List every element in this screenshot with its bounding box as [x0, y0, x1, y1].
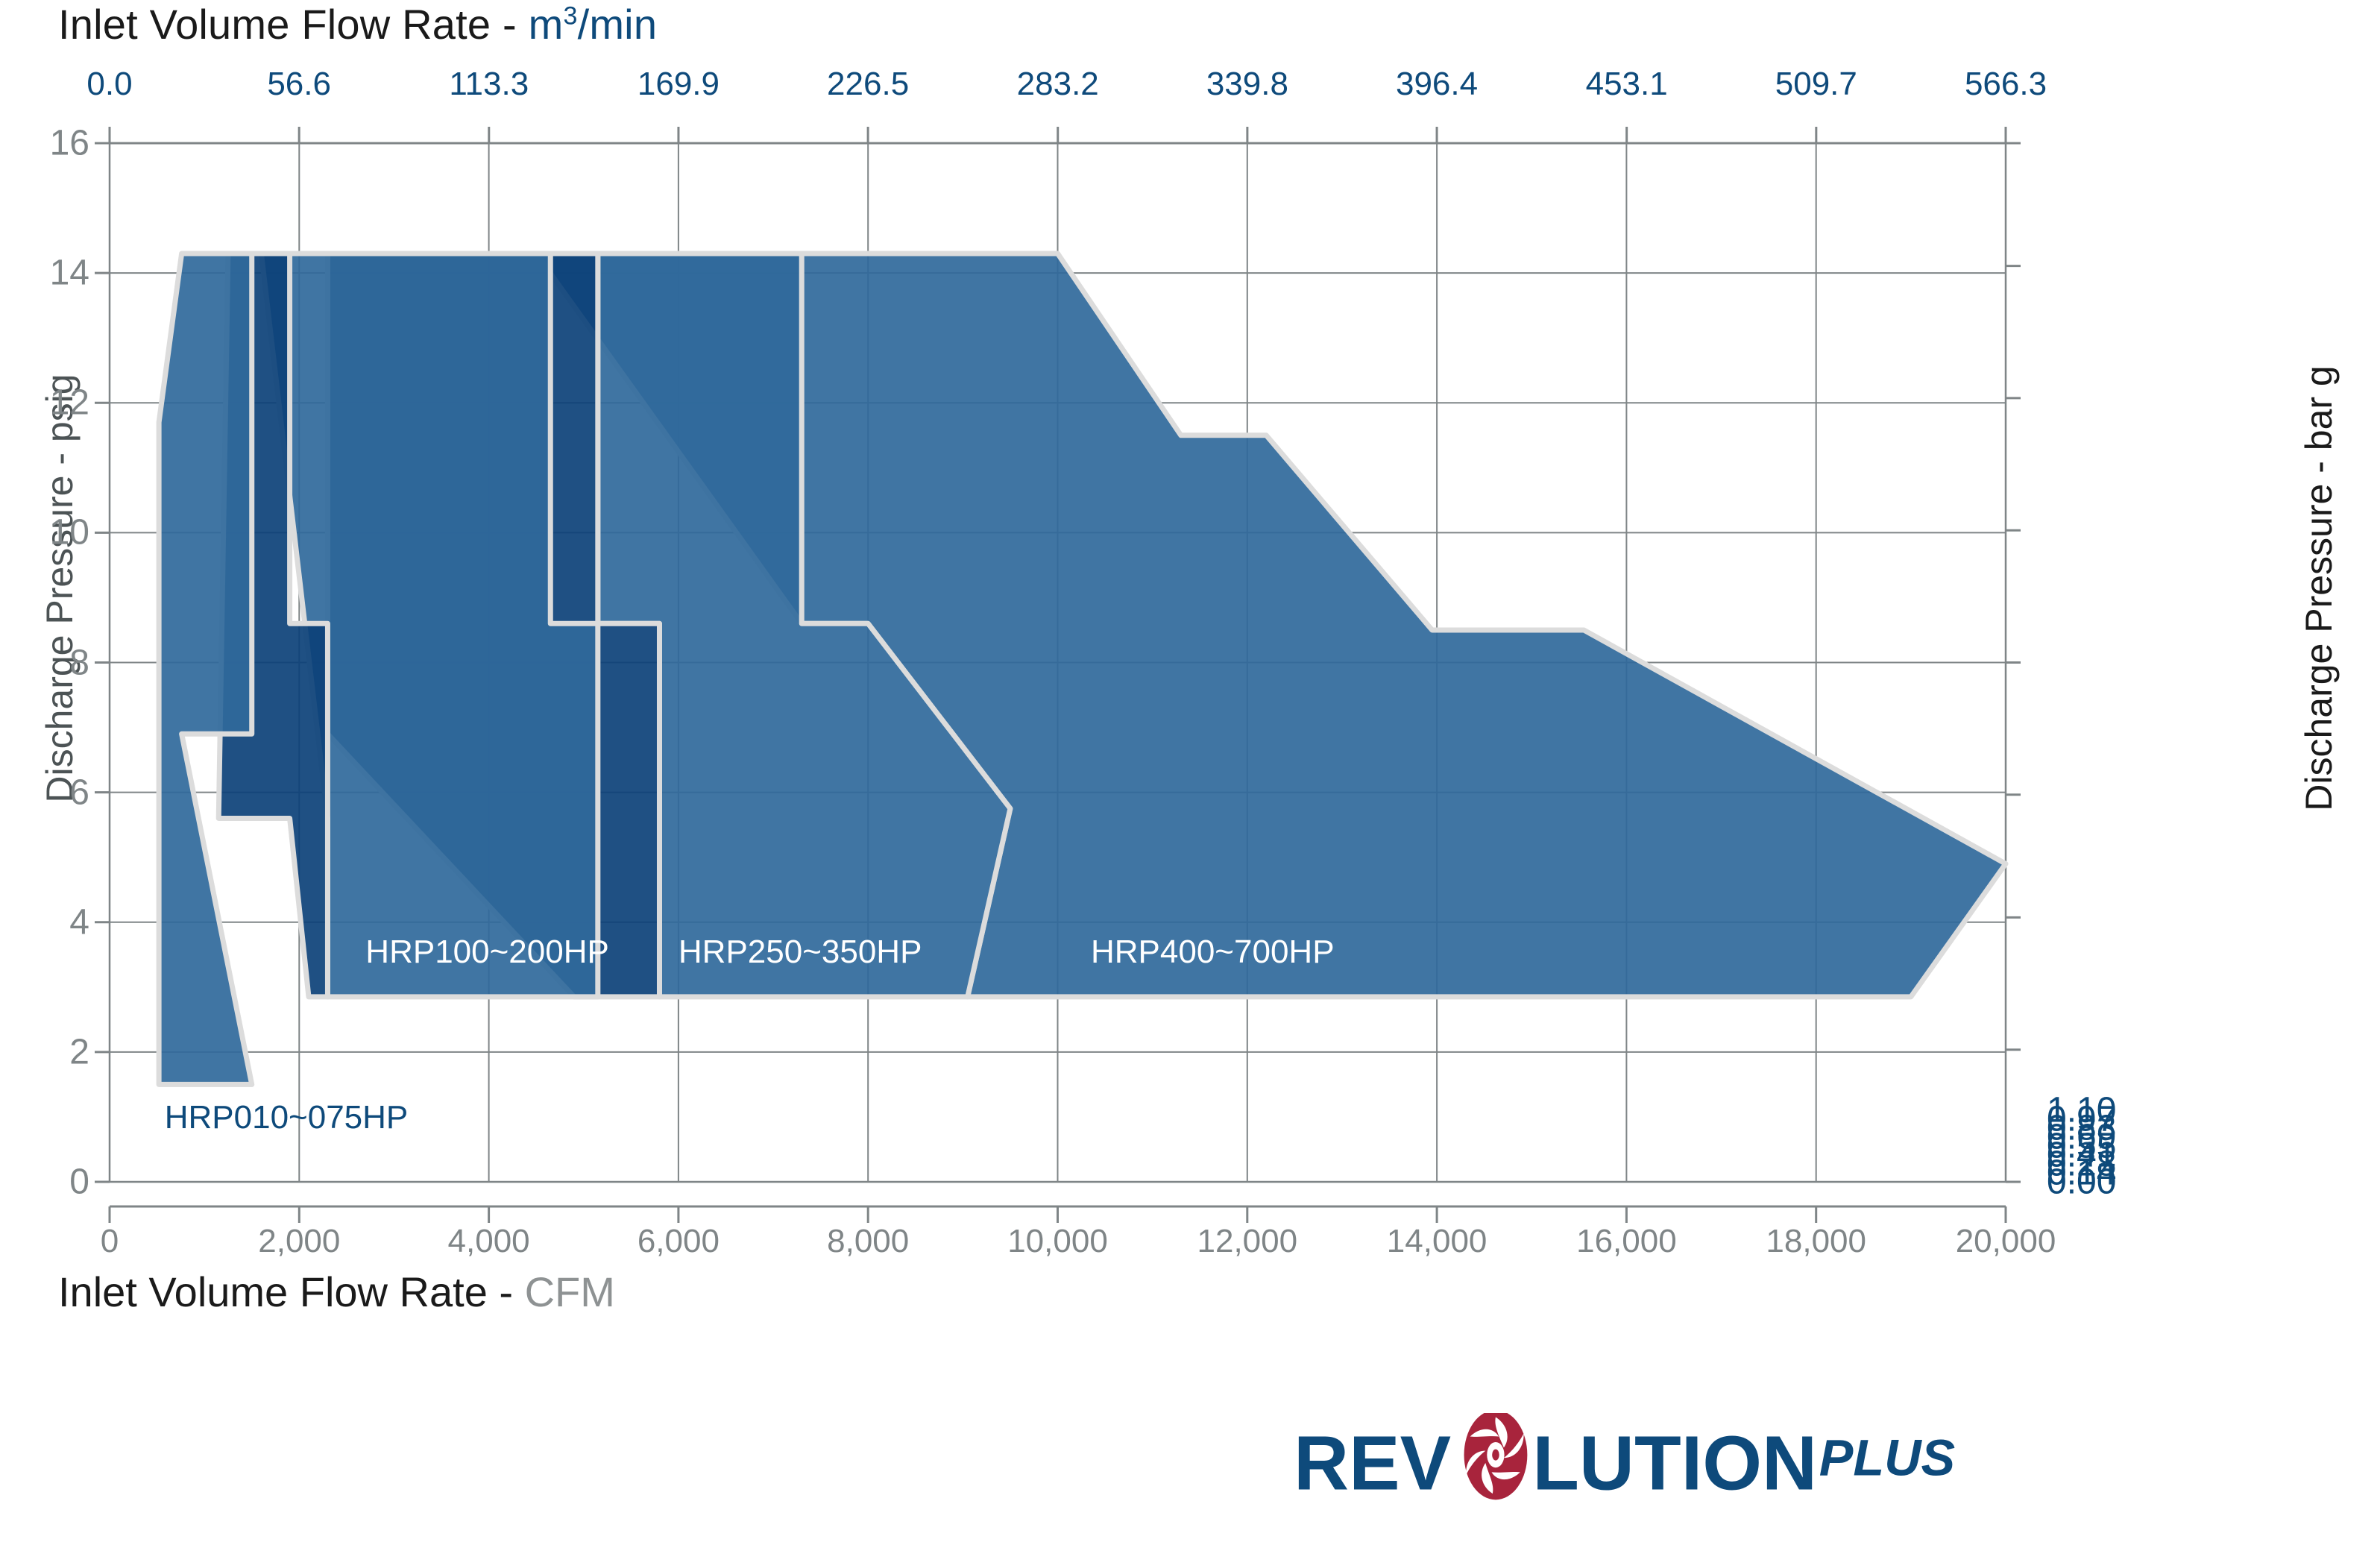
- plot-area: [0, 0, 2380, 1542]
- logo-text-rev: REV: [1294, 1420, 1451, 1506]
- series-label-hrp100-200hp: HRP100~200HP: [365, 934, 609, 971]
- series-label-hrp250-350hp: HRP250~350HP: [679, 934, 922, 971]
- revolution-plus-logo: REV LUTION PLUS: [1294, 1413, 1956, 1510]
- logo-text-lution: LUTION: [1532, 1420, 1817, 1506]
- chart-canvas: Inlet Volume Flow Rate - m3/min Inlet Vo…: [0, 0, 2380, 1542]
- logo-text-plus: PLUS: [1819, 1429, 1955, 1486]
- series-label-hrp010-075hp: HRP010~075HP: [165, 1099, 409, 1136]
- series-label-hrp400-700hp: HRP400~700HP: [1091, 934, 1335, 971]
- impeller-icon: [1464, 1413, 1528, 1499]
